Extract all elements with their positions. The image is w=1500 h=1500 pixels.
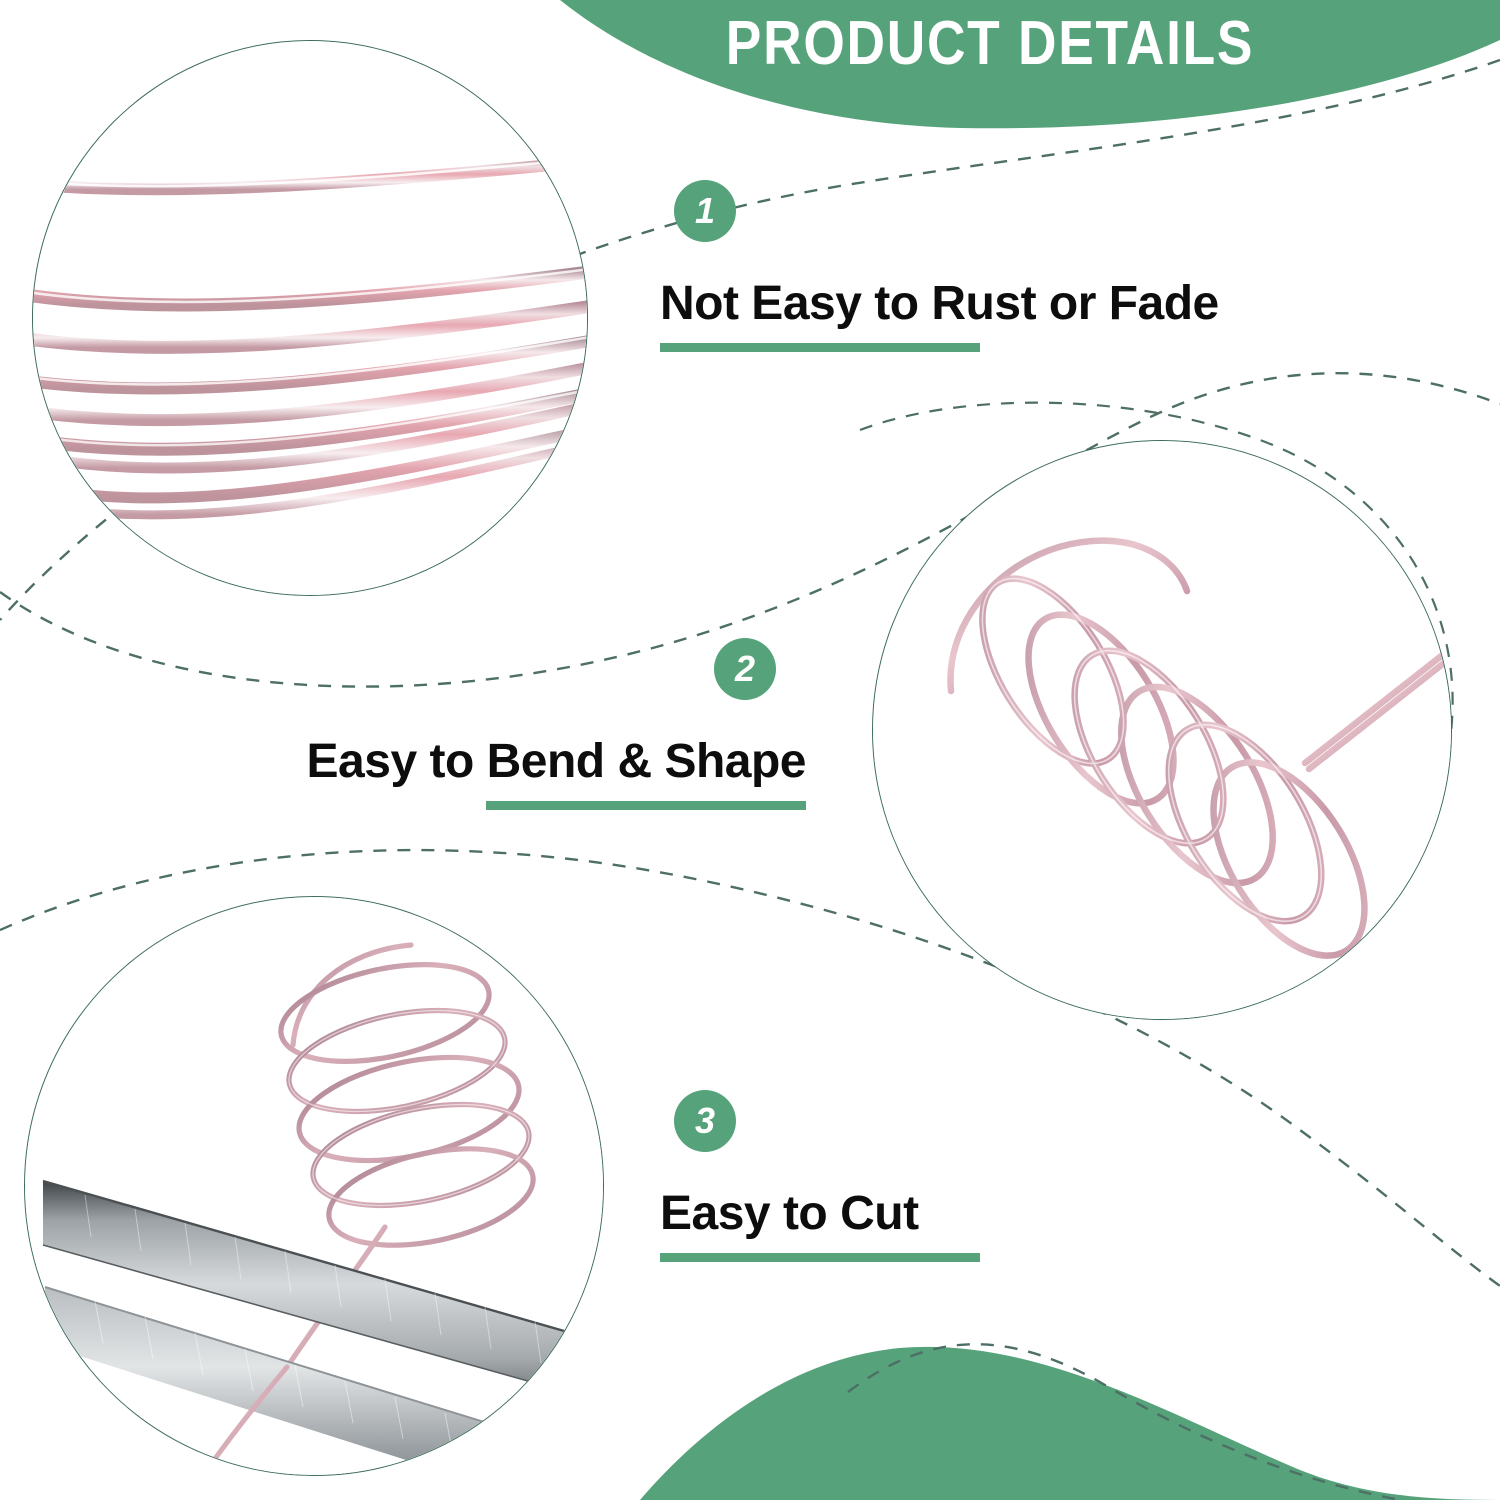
product-details-infographic: PRODUCT DETAILS	[0, 0, 1500, 1500]
feature-title-2: Easy to Bend & Shape	[250, 736, 806, 789]
photo-wire-strands-closeup	[32, 40, 588, 596]
feature-block-3: 3 Easy to Cut	[660, 1090, 980, 1262]
feature-block-1: 1 Not Easy to Rust or Fade	[660, 180, 1219, 352]
feature-block-2: 2 Easy to Bend & Shape	[250, 638, 806, 810]
feature-underline-3	[660, 1253, 980, 1262]
photo-wire-cut-with-scissors	[24, 896, 604, 1476]
feature-number-badge-1: 1	[674, 180, 736, 242]
photo-wire-coil-spring	[872, 440, 1452, 1020]
feature-number-badge-2: 2	[714, 638, 776, 700]
dashed-curve-bottom	[848, 1344, 1500, 1500]
feature-underline-1	[660, 343, 980, 352]
page-title: PRODUCT DETAILS	[689, 8, 1291, 79]
feature-number-badge-3: 3	[674, 1090, 736, 1152]
feature-title-1: Not Easy to Rust or Fade	[660, 278, 1219, 331]
feature-underline-2	[486, 801, 806, 810]
feature-title-3: Easy to Cut	[660, 1188, 980, 1241]
bottom-wave-shape	[640, 1347, 1500, 1500]
